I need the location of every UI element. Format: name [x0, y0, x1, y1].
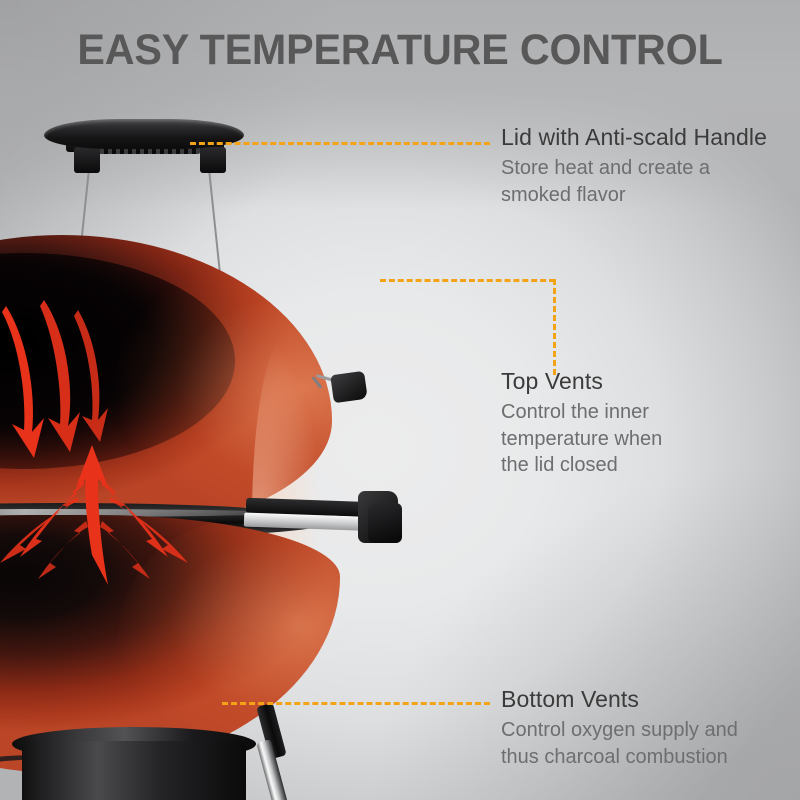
leader-line-bottom-vents [222, 702, 490, 705]
callout-lid-heading: Lid with Anti-scald Handle [501, 124, 767, 151]
callout-bottom-vents: Bottom Vents Control oxygen supply and t… [501, 686, 738, 770]
callout-lid-body: Store heat and create a smoked flavor [501, 155, 767, 208]
heat-flow-arrow-bowl [0, 435, 242, 635]
callout-lid: Lid with Anti-scald Handle Store heat an… [501, 124, 767, 208]
side-handle-end-cap-inner [368, 503, 402, 543]
callout-top-vents-heading: Top Vents [501, 368, 662, 395]
leader-line-top-vents-horizontal [380, 279, 555, 282]
callout-top-vents-body-line-3: the lid closed [501, 454, 618, 476]
callout-bottom-vents-body-line-2: thus charcoal combustion [501, 746, 728, 768]
callout-top-vents: Top Vents Control the inner temperature … [501, 368, 662, 479]
top-vent-damper [330, 371, 368, 403]
page-title: EASY TEMPERATURE CONTROL [16, 26, 784, 75]
callout-bottom-vents-heading: Bottom Vents [501, 686, 738, 713]
leader-line-lid [190, 142, 490, 145]
infographic-canvas: EASY TEMPERATURE CONTROL [0, 0, 800, 800]
handle-foot-left [74, 147, 100, 173]
callout-bottom-vents-body-line-1: Control oxygen supply and [501, 719, 738, 741]
grill-illustration [0, 105, 472, 800]
leader-line-top-vents-vertical [553, 279, 556, 375]
callout-top-vents-body-line-1: Control the inner [501, 401, 649, 423]
callout-top-vents-body: Control the inner temperature when the l… [501, 399, 662, 479]
handle-foot-right [200, 147, 226, 173]
callout-top-vents-body-line-2: temperature when [501, 428, 662, 450]
callout-bottom-vents-body: Control oxygen supply and thus charcoal … [501, 717, 738, 770]
ash-catcher [22, 741, 246, 800]
callout-lid-body-line-1: Store heat and create a [501, 157, 710, 179]
callout-lid-body-line-2: smoked flavor [501, 184, 626, 206]
